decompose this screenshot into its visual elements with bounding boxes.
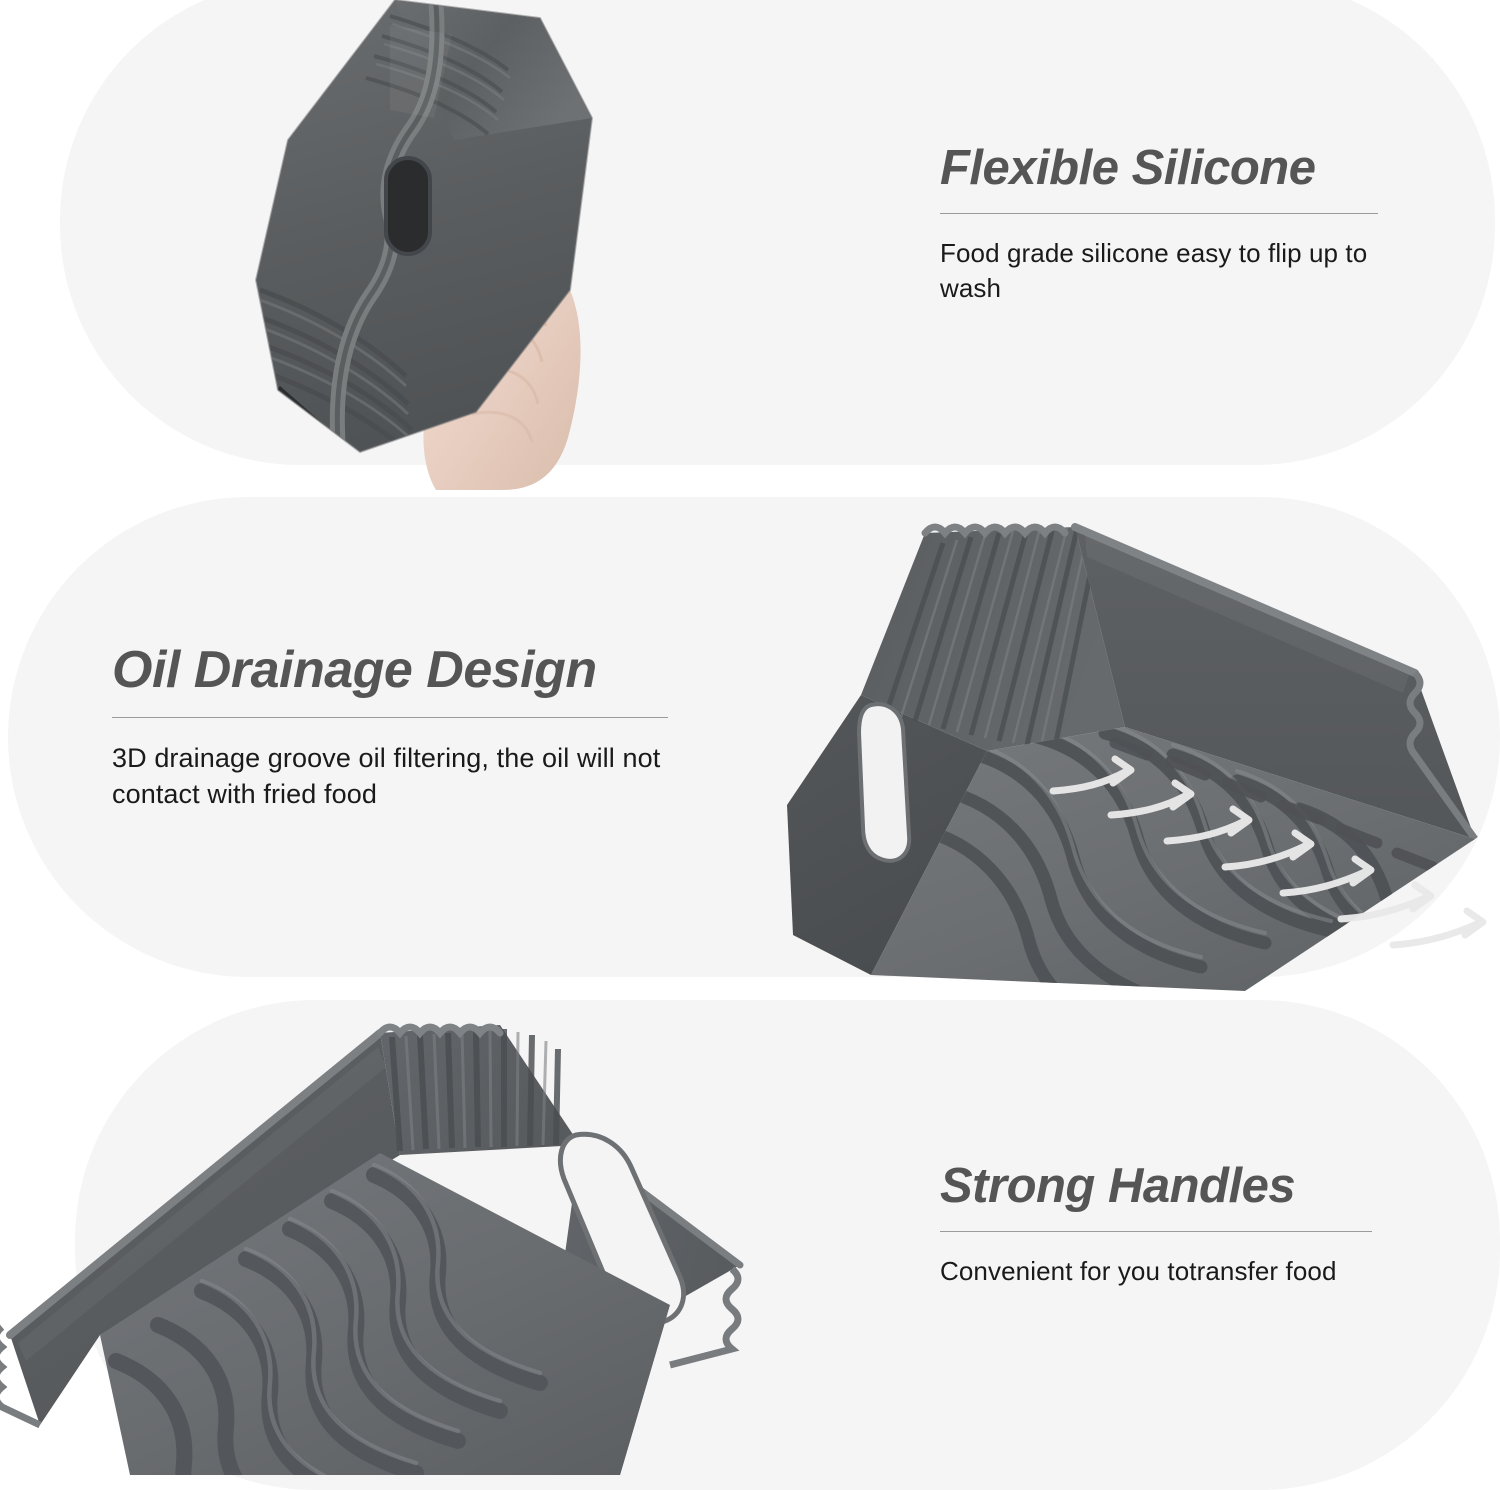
handle-slot bbox=[386, 158, 430, 254]
feature-heading: Flexible Silicone bbox=[940, 140, 1400, 196]
heading-divider bbox=[940, 1231, 1372, 1232]
feature-text-oil-drainage-design: Oil Drainage Design 3D drainage groove o… bbox=[112, 640, 692, 812]
fluted-rim bbox=[380, 1025, 580, 1155]
feature-heading: Oil Drainage Design bbox=[112, 640, 692, 700]
handle-slot bbox=[859, 704, 909, 861]
feature-text-strong-handles: Strong Handles Convenient for you totran… bbox=[940, 1158, 1400, 1289]
heading-divider bbox=[112, 717, 668, 718]
feature-heading: Strong Handles bbox=[940, 1158, 1400, 1214]
feature-text-flexible-silicone: Flexible Silicone Food grade silicone ea… bbox=[940, 140, 1400, 306]
feature-body: Food grade silicone easy to flip up to w… bbox=[940, 236, 1400, 306]
product-image-silicone-basket-with-side-handle-slot bbox=[0, 1005, 800, 1475]
heading-divider bbox=[940, 213, 1378, 214]
feature-body: 3D drainage groove oil filtering, the oi… bbox=[112, 740, 692, 812]
infographic-stage: Flexible Silicone Food grade silicone ea… bbox=[0, 0, 1500, 1468]
product-image-silicone-basket-with-wavy-drainage-grooves-and-arrows bbox=[775, 505, 1500, 995]
feature-body: Convenient for you totransfer food bbox=[940, 1254, 1400, 1289]
product-image-hand-squeezing-folded-silicone-basket bbox=[240, 0, 660, 490]
